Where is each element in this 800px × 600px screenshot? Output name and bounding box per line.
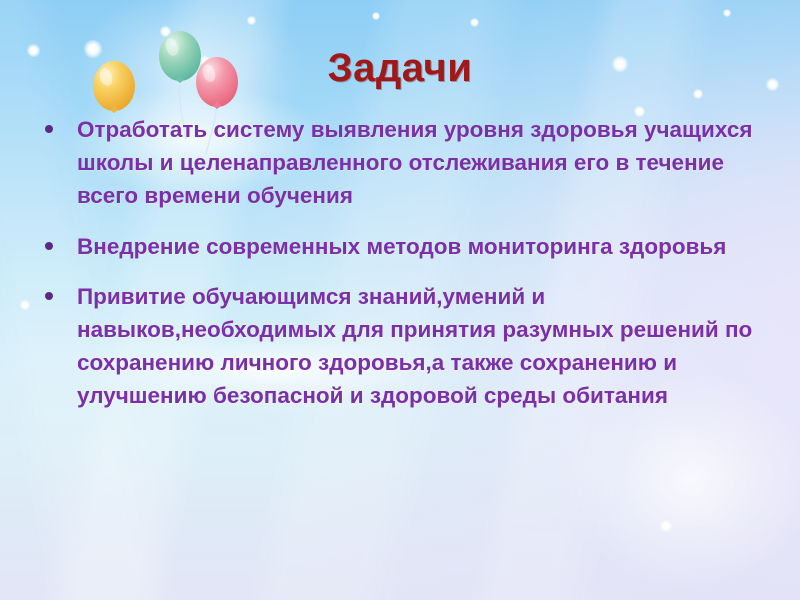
sparkle-dot xyxy=(660,520,672,532)
list-item-text: Внедрение современных методов мониторинг… xyxy=(77,231,766,264)
slide-title: Задачи xyxy=(0,46,800,91)
slide-canvas: Задачи Отработать систему выявления уров… xyxy=(0,0,800,600)
bullet-list: Отработать систему выявления уровня здор… xyxy=(36,114,766,413)
sparkle-dot xyxy=(20,300,30,310)
list-item: Отработать систему выявления уровня здор… xyxy=(36,114,766,213)
sparkle-dot xyxy=(723,9,731,17)
list-item: Привитие обучающимся знаний,умений и нав… xyxy=(36,281,766,412)
list-item-text: Отработать систему выявления уровня здор… xyxy=(77,114,766,213)
list-item: Внедрение современных методов мониторинг… xyxy=(36,231,766,264)
bullet-dot-icon xyxy=(36,114,77,133)
sparkle-dot xyxy=(372,12,380,20)
sparkle-dot xyxy=(470,18,479,27)
list-item-text: Привитие обучающимся знаний,умений и нав… xyxy=(77,281,766,412)
bullet-dot-icon xyxy=(36,281,77,300)
bullet-dot-icon xyxy=(36,231,77,250)
